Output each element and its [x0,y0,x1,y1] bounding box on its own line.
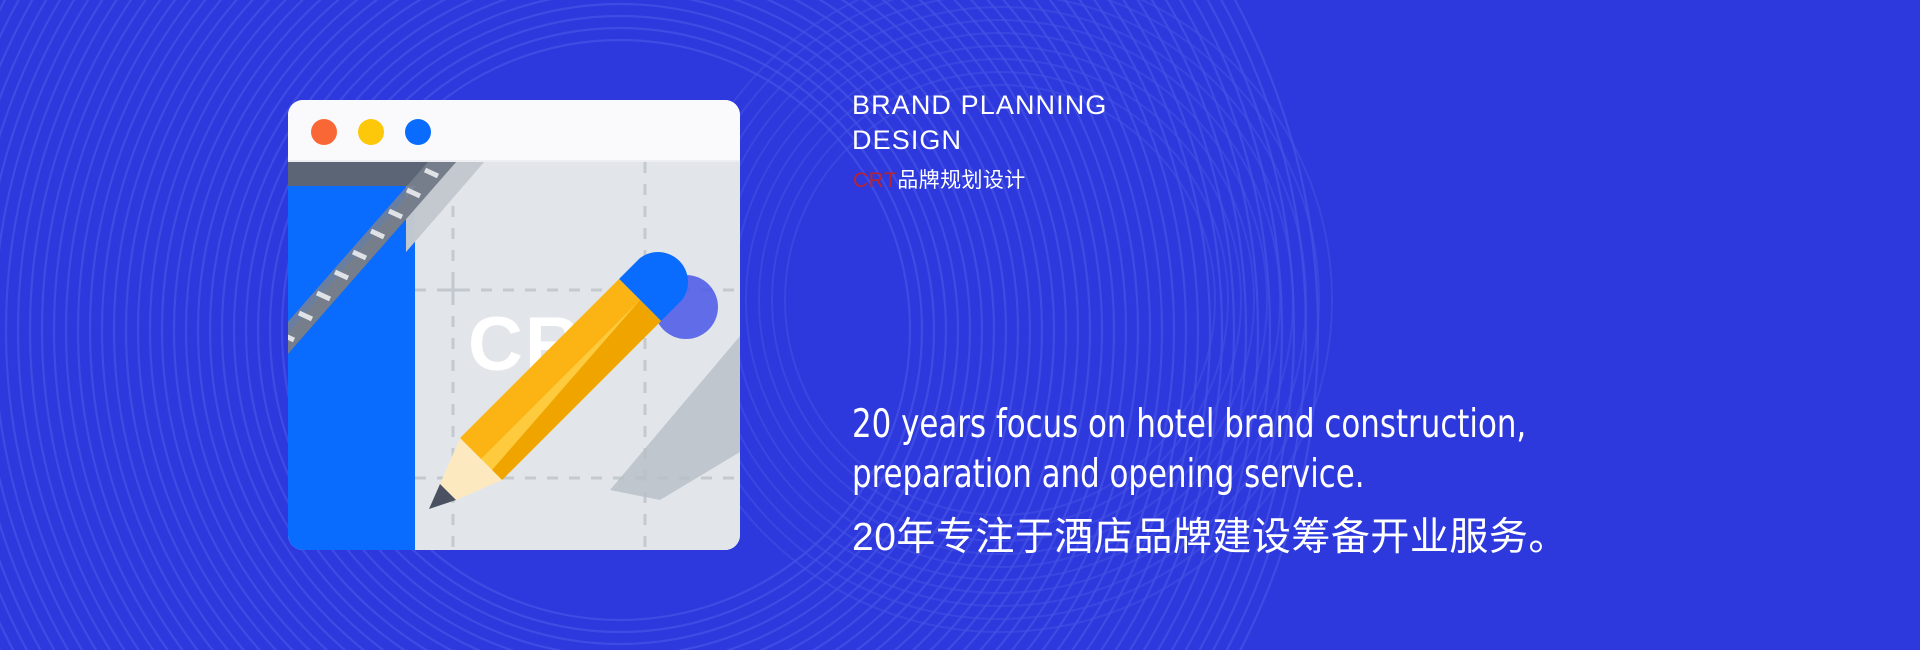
maximize-dot[interactable] [405,119,431,145]
tagline-english: 20 years focus on hotel brand constructi… [852,400,1732,500]
brand-chinese-text: 品牌规划设计 [897,169,1025,192]
banner-copy: BRAND PLANNING DESIGN CRT品牌规划设计 20 years… [852,0,1882,650]
brand-design-illustration: CRT [288,100,740,550]
window-card: CRT [230,100,740,550]
brand-banner: CRT [0,0,1920,650]
window-controls [311,119,431,145]
brand-crt-mark: CRT [853,169,897,192]
brand-chinese-lockup: CRT品牌规划设计 [853,168,1026,194]
eyebrow-heading: BRAND PLANNING DESIGN [852,88,1107,158]
tagline-chinese: 20年专注于酒店品牌建设筹备开业服务。 [852,512,1568,564]
minimize-dot[interactable] [358,119,384,145]
close-dot[interactable] [311,119,337,145]
window-title-bar [288,100,740,162]
